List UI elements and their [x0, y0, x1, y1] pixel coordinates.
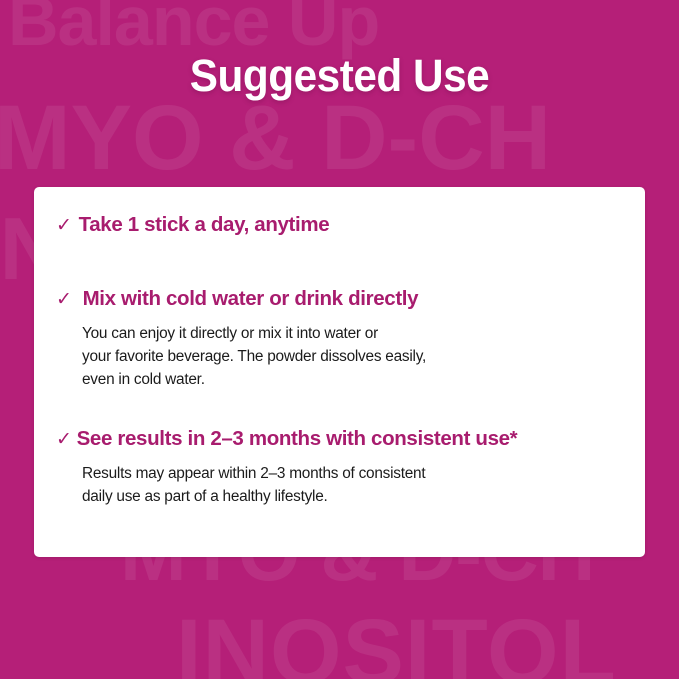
watermark-text-myo-dch-top: MYO & D-CH: [0, 92, 551, 184]
item-2-body: You can enjoy it directly or mix it into…: [82, 322, 426, 391]
item-3-body: Results may appear within 2–3 months of …: [82, 462, 517, 508]
item-3-heading-row: ✓ See results in 2–3 months with consist…: [56, 427, 517, 451]
watermark-text-balance-up: Balance Up: [8, 0, 379, 56]
page-title: Suggested Use: [20, 50, 658, 102]
item-1-heading: Take 1 stick a day, anytime: [79, 213, 330, 237]
check-icon: ✓: [56, 290, 72, 309]
check-icon: ✓: [56, 216, 72, 235]
suggested-use-item-2: ✓ Mix with cold water or drink directly …: [56, 287, 426, 391]
item-2-heading-row: ✓ Mix with cold water or drink directly: [56, 287, 426, 311]
item-2-heading: Mix with cold water or drink directly: [83, 287, 419, 311]
suggested-use-card: ✓ Take 1 stick a day, anytime ✓ Mix with…: [34, 187, 645, 557]
watermark-text-inositol-bottom: INOSITOL: [176, 606, 617, 679]
item-3-heading: See results in 2–3 months with consisten…: [77, 427, 518, 451]
check-icon: ✓: [56, 430, 72, 449]
item-1-heading-row: ✓ Take 1 stick a day, anytime: [56, 213, 329, 237]
suggested-use-item-3: ✓ See results in 2–3 months with consist…: [56, 427, 517, 508]
suggested-use-item-1: ✓ Take 1 stick a day, anytime: [56, 213, 329, 237]
